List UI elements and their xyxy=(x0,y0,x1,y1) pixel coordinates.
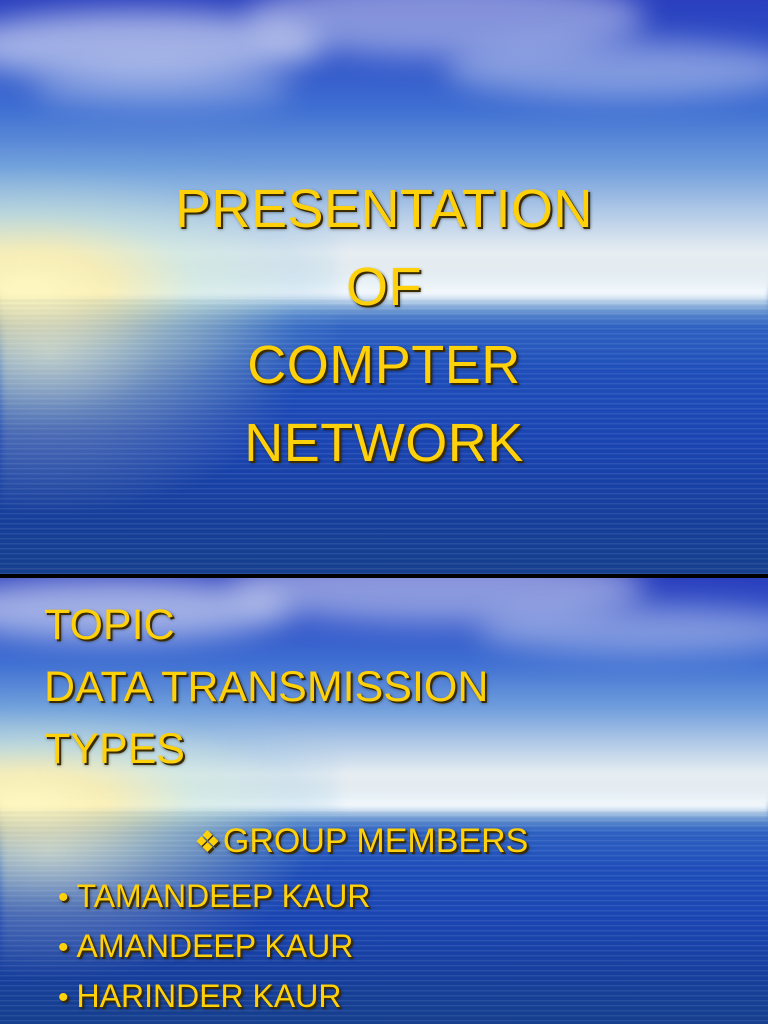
list-item: •TAMANDEEP KAUR xyxy=(44,872,738,922)
title-line-3: COMPTER xyxy=(0,326,768,404)
dot-bullet-icon: • xyxy=(58,881,69,914)
slide-topic: TOPIC DATA TRANSMISSION TYPES ❖GROUP MEM… xyxy=(0,578,768,1024)
member-name: TAMANDEEP KAUR xyxy=(77,878,371,914)
list-item: •HARINDER KAUR xyxy=(44,972,738,1022)
title-line-1: PRESENTATION xyxy=(0,170,768,248)
cloud-shape xyxy=(445,40,768,97)
dot-bullet-icon: • xyxy=(58,981,69,1014)
member-name: AMANDEEP KAUR xyxy=(77,928,354,964)
list-item: •AMANDEEP KAUR xyxy=(44,922,738,972)
title-line-4: NETWORK xyxy=(0,404,768,482)
topic-line-1: TOPIC xyxy=(44,594,738,656)
group-members-list: •TAMANDEEP KAUR •AMANDEEP KAUR •HARINDER… xyxy=(44,872,738,1022)
group-members-heading: ❖GROUP MEMBERS xyxy=(44,818,738,866)
dot-bullet-icon: • xyxy=(58,931,69,964)
member-name: HARINDER KAUR xyxy=(77,978,342,1014)
slide-title: PRESENTATION OF COMPTER NETWORK xyxy=(0,0,768,574)
title-block: PRESENTATION OF COMPTER NETWORK xyxy=(0,170,768,482)
cloud-shape xyxy=(31,69,292,109)
topic-block: TOPIC DATA TRANSMISSION TYPES ❖GROUP MEM… xyxy=(0,578,768,1022)
title-line-2: OF xyxy=(0,248,768,326)
diamond-bullet-icon: ❖ xyxy=(194,826,221,859)
group-members-label: GROUP MEMBERS xyxy=(223,822,528,860)
presentation-deck: PRESENTATION OF COMPTER NETWORK TOPIC DA… xyxy=(0,0,768,1024)
topic-line-2: DATA TRANSMISSION xyxy=(44,656,738,718)
topic-line-3: TYPES xyxy=(44,718,738,780)
